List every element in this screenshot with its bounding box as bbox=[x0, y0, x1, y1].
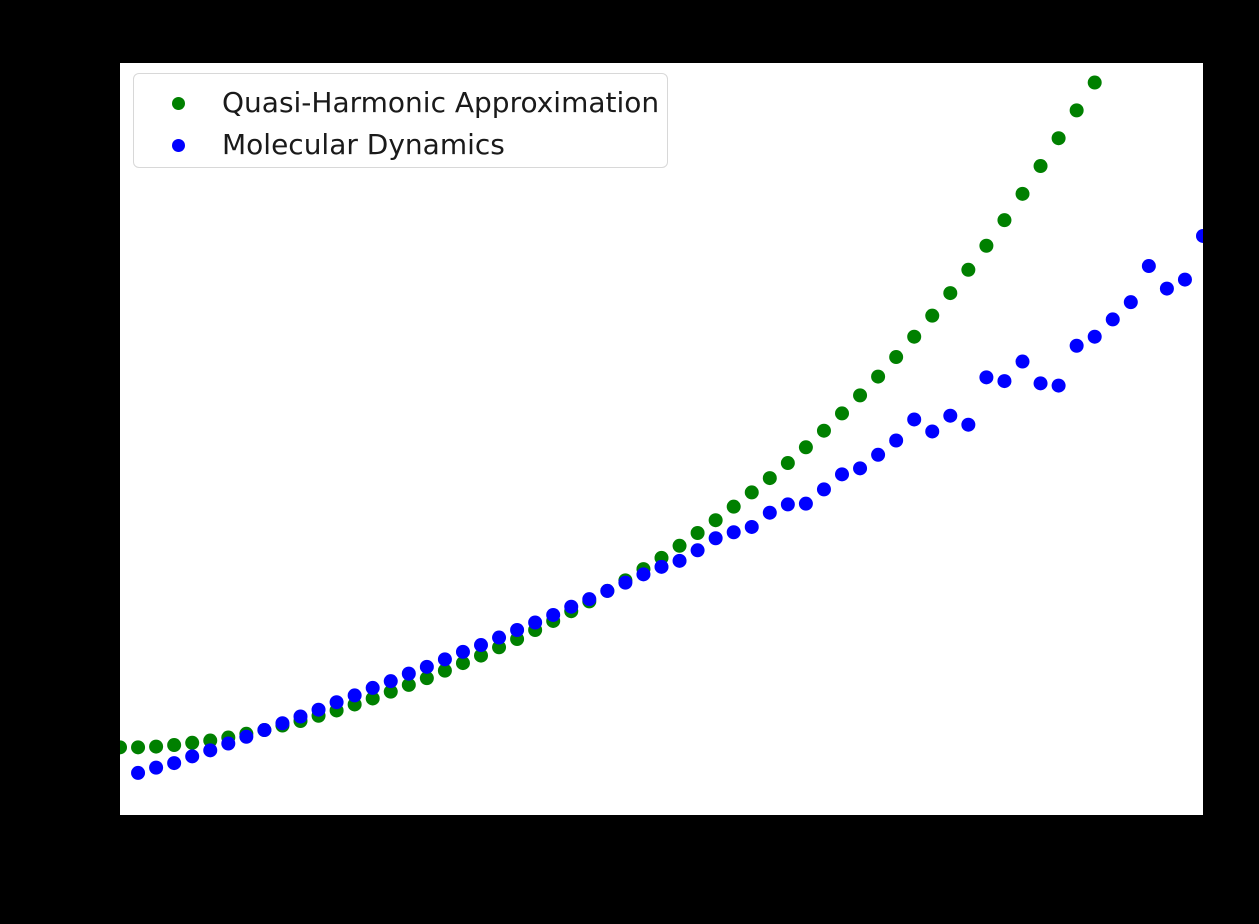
data-point bbox=[943, 409, 957, 423]
data-point bbox=[1070, 339, 1084, 353]
data-point bbox=[1088, 76, 1102, 90]
data-point bbox=[997, 374, 1011, 388]
figure-canvas: Quasi-Harmonic Approximation Molecular D… bbox=[0, 0, 1259, 924]
data-point bbox=[167, 756, 181, 770]
legend-box: Quasi-Harmonic Approximation Molecular D… bbox=[133, 73, 668, 168]
data-point bbox=[366, 681, 380, 695]
data-point bbox=[312, 703, 326, 717]
data-point bbox=[655, 560, 669, 574]
data-point bbox=[673, 539, 687, 553]
data-point bbox=[185, 736, 199, 750]
data-point bbox=[727, 525, 741, 539]
data-point bbox=[925, 424, 939, 438]
legend-circle-marker-icon bbox=[172, 97, 185, 110]
data-point bbox=[275, 716, 289, 730]
data-point bbox=[835, 406, 849, 420]
data-point bbox=[745, 485, 759, 499]
data-point bbox=[149, 761, 163, 775]
data-point bbox=[943, 286, 957, 300]
data-point bbox=[420, 660, 434, 674]
data-point bbox=[1016, 355, 1030, 369]
data-point bbox=[510, 623, 524, 637]
data-point bbox=[1124, 295, 1138, 309]
legend-entry-quasi-harmonic-approximation[interactable]: Quasi-Harmonic Approximation bbox=[134, 82, 659, 124]
plot-area: Quasi-Harmonic Approximation Molecular D… bbox=[120, 63, 1203, 815]
data-point bbox=[997, 213, 1011, 227]
data-point bbox=[961, 263, 975, 277]
data-point bbox=[763, 471, 777, 485]
legend-entry-molecular-dynamics[interactable]: Molecular Dynamics bbox=[134, 124, 505, 166]
data-point bbox=[564, 600, 578, 614]
data-point bbox=[384, 674, 398, 688]
legend-label-molecular-dynamics: Molecular Dynamics bbox=[222, 130, 505, 160]
data-point bbox=[871, 370, 885, 384]
data-point bbox=[474, 638, 488, 652]
data-point bbox=[1052, 379, 1066, 393]
data-point bbox=[871, 448, 885, 462]
data-point bbox=[131, 740, 145, 754]
data-point bbox=[817, 424, 831, 438]
data-point bbox=[1088, 330, 1102, 344]
legend-marker-cell bbox=[134, 139, 222, 152]
legend-label-quasi-harmonic-approximation: Quasi-Harmonic Approximation bbox=[222, 88, 659, 118]
data-point bbox=[1070, 103, 1084, 117]
data-point bbox=[1196, 229, 1203, 243]
data-point bbox=[618, 576, 632, 590]
data-point bbox=[979, 239, 993, 253]
data-point bbox=[294, 709, 308, 723]
series-molecular-dynamics-points bbox=[131, 229, 1203, 780]
data-point bbox=[781, 497, 795, 511]
data-point bbox=[907, 330, 921, 344]
legend-marker-cell bbox=[134, 97, 222, 110]
data-point bbox=[528, 615, 542, 629]
data-point bbox=[636, 567, 650, 581]
data-point bbox=[799, 497, 813, 511]
data-point bbox=[709, 531, 723, 545]
data-point bbox=[673, 554, 687, 568]
data-point bbox=[709, 513, 723, 527]
data-point bbox=[853, 461, 867, 475]
data-point bbox=[799, 440, 813, 454]
data-point bbox=[402, 667, 416, 681]
data-point bbox=[167, 738, 181, 752]
data-point bbox=[221, 737, 235, 751]
data-point bbox=[907, 412, 921, 426]
data-point bbox=[1052, 131, 1066, 145]
data-point bbox=[600, 584, 614, 598]
data-point bbox=[691, 526, 705, 540]
data-point bbox=[185, 749, 199, 763]
data-point bbox=[131, 766, 145, 780]
data-point bbox=[149, 740, 163, 754]
data-point bbox=[1178, 273, 1192, 287]
data-point bbox=[1106, 312, 1120, 326]
data-point bbox=[727, 500, 741, 514]
data-point bbox=[961, 418, 975, 432]
data-point bbox=[745, 520, 759, 534]
data-point bbox=[1034, 376, 1048, 390]
data-point bbox=[889, 350, 903, 364]
data-point bbox=[330, 695, 344, 709]
data-point bbox=[1142, 259, 1156, 273]
data-point bbox=[257, 723, 271, 737]
data-point bbox=[492, 631, 506, 645]
data-point bbox=[979, 370, 993, 384]
data-point bbox=[763, 506, 777, 520]
data-point bbox=[925, 309, 939, 323]
data-point bbox=[438, 652, 452, 666]
data-point bbox=[817, 482, 831, 496]
legend-circle-marker-icon bbox=[172, 139, 185, 152]
data-point bbox=[456, 645, 470, 659]
data-point bbox=[546, 608, 560, 622]
data-point bbox=[1034, 159, 1048, 173]
data-point bbox=[582, 592, 596, 606]
data-point bbox=[781, 456, 795, 470]
data-point bbox=[203, 743, 217, 757]
data-point bbox=[889, 434, 903, 448]
data-point bbox=[835, 467, 849, 481]
scatter-data-layer bbox=[120, 63, 1203, 815]
data-point bbox=[348, 688, 362, 702]
data-point bbox=[239, 730, 253, 744]
data-point bbox=[1016, 187, 1030, 201]
data-point bbox=[120, 740, 127, 754]
data-point bbox=[1160, 282, 1174, 296]
data-point bbox=[853, 388, 867, 402]
data-point bbox=[691, 543, 705, 557]
